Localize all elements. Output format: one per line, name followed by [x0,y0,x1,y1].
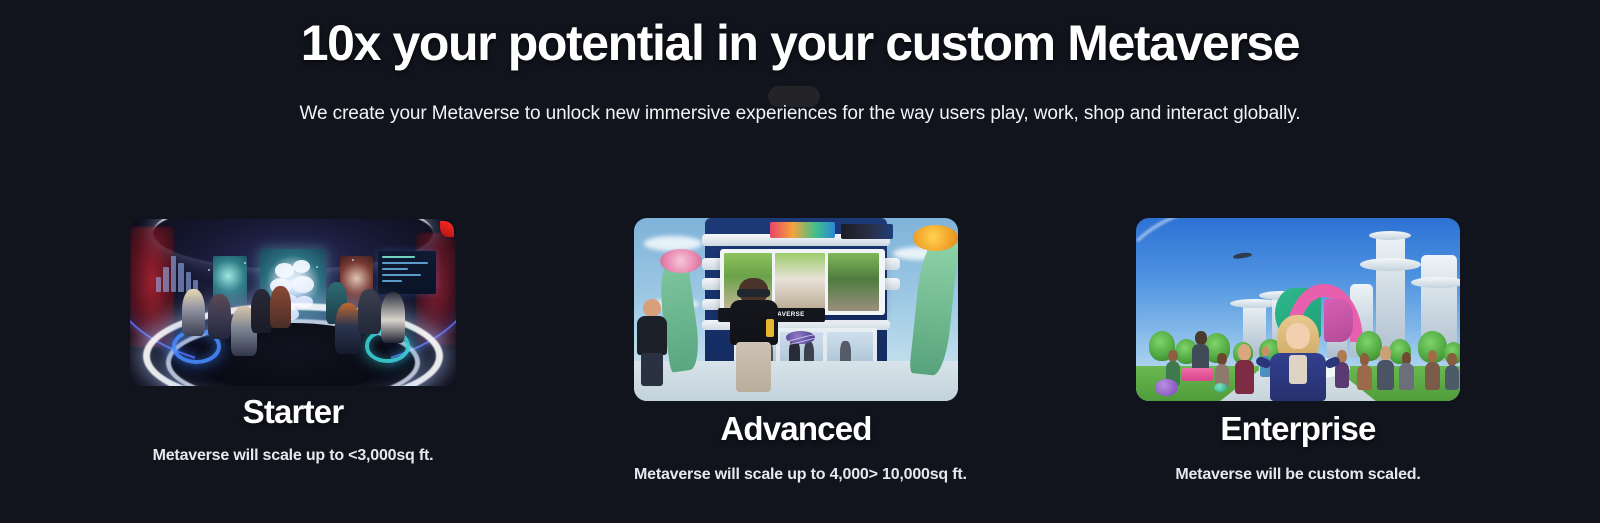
avatar [1376,346,1395,390]
avatar [1424,350,1440,390]
plan-card-advanced[interactable]: IN THE METAVERSE [634,218,958,401]
tower-disc [1360,258,1422,271]
info-screen [378,251,437,294]
avatar [1398,352,1414,390]
plan-description-enterprise: Metaverse will be custom scaled. [1136,466,1460,484]
pink-sign [1181,368,1213,381]
billboard-photo [828,253,879,311]
page-subtitle: We create your Metaverse to unlock new i… [0,103,1600,125]
plan-image-advanced: IN THE METAVERSE [634,218,958,401]
avatar [358,289,381,334]
avatar [208,294,231,339]
plan-card-enterprise[interactable]: Enterprise Metaverse will be custom scal… [1136,218,1460,401]
plan-description-starter: Metaverse will scale up to <3,000sq ft. [130,447,456,465]
avatar [251,289,272,332]
flower-left [660,249,702,273]
avatar [1334,350,1350,388]
plan-title-starter: Starter [130,393,456,431]
avatar [1233,344,1256,393]
main-avatar [728,278,780,391]
featured-avatar [1269,315,1327,401]
plan-image-starter [130,219,456,386]
tower-disc [1411,277,1460,288]
purple-panel [1324,299,1353,343]
avatar [1356,353,1372,390]
avatar [1191,331,1210,371]
plan-title-advanced: Advanced [634,410,958,448]
metaverse-pricing-section: 10x your potential in your custom Metave… [0,0,1600,523]
decor-ball [1155,379,1178,395]
plan-card-starter[interactable]: Starter Metaverse will scale up to <3,00… [130,219,456,386]
avatar [1444,353,1460,390]
avatar [381,292,405,342]
secondary-sign [841,224,893,239]
top-marquee-sign [770,222,835,238]
tower-disc [1369,231,1411,240]
equalizer-bars [156,252,198,292]
avatar [182,289,205,336]
decor-ball [1214,383,1227,392]
avatar [270,286,291,328]
plan-description-advanced: Metaverse will scale up to 4,000> 10,000… [634,466,958,484]
plan-title-enterprise: Enterprise [1136,410,1460,448]
page-title: 10x your potential in your custom Metave… [0,14,1600,72]
billboard-photo [775,253,825,311]
flower-right [913,225,958,251]
plan-image-enterprise [1136,218,1460,401]
side-avatar [634,299,670,387]
